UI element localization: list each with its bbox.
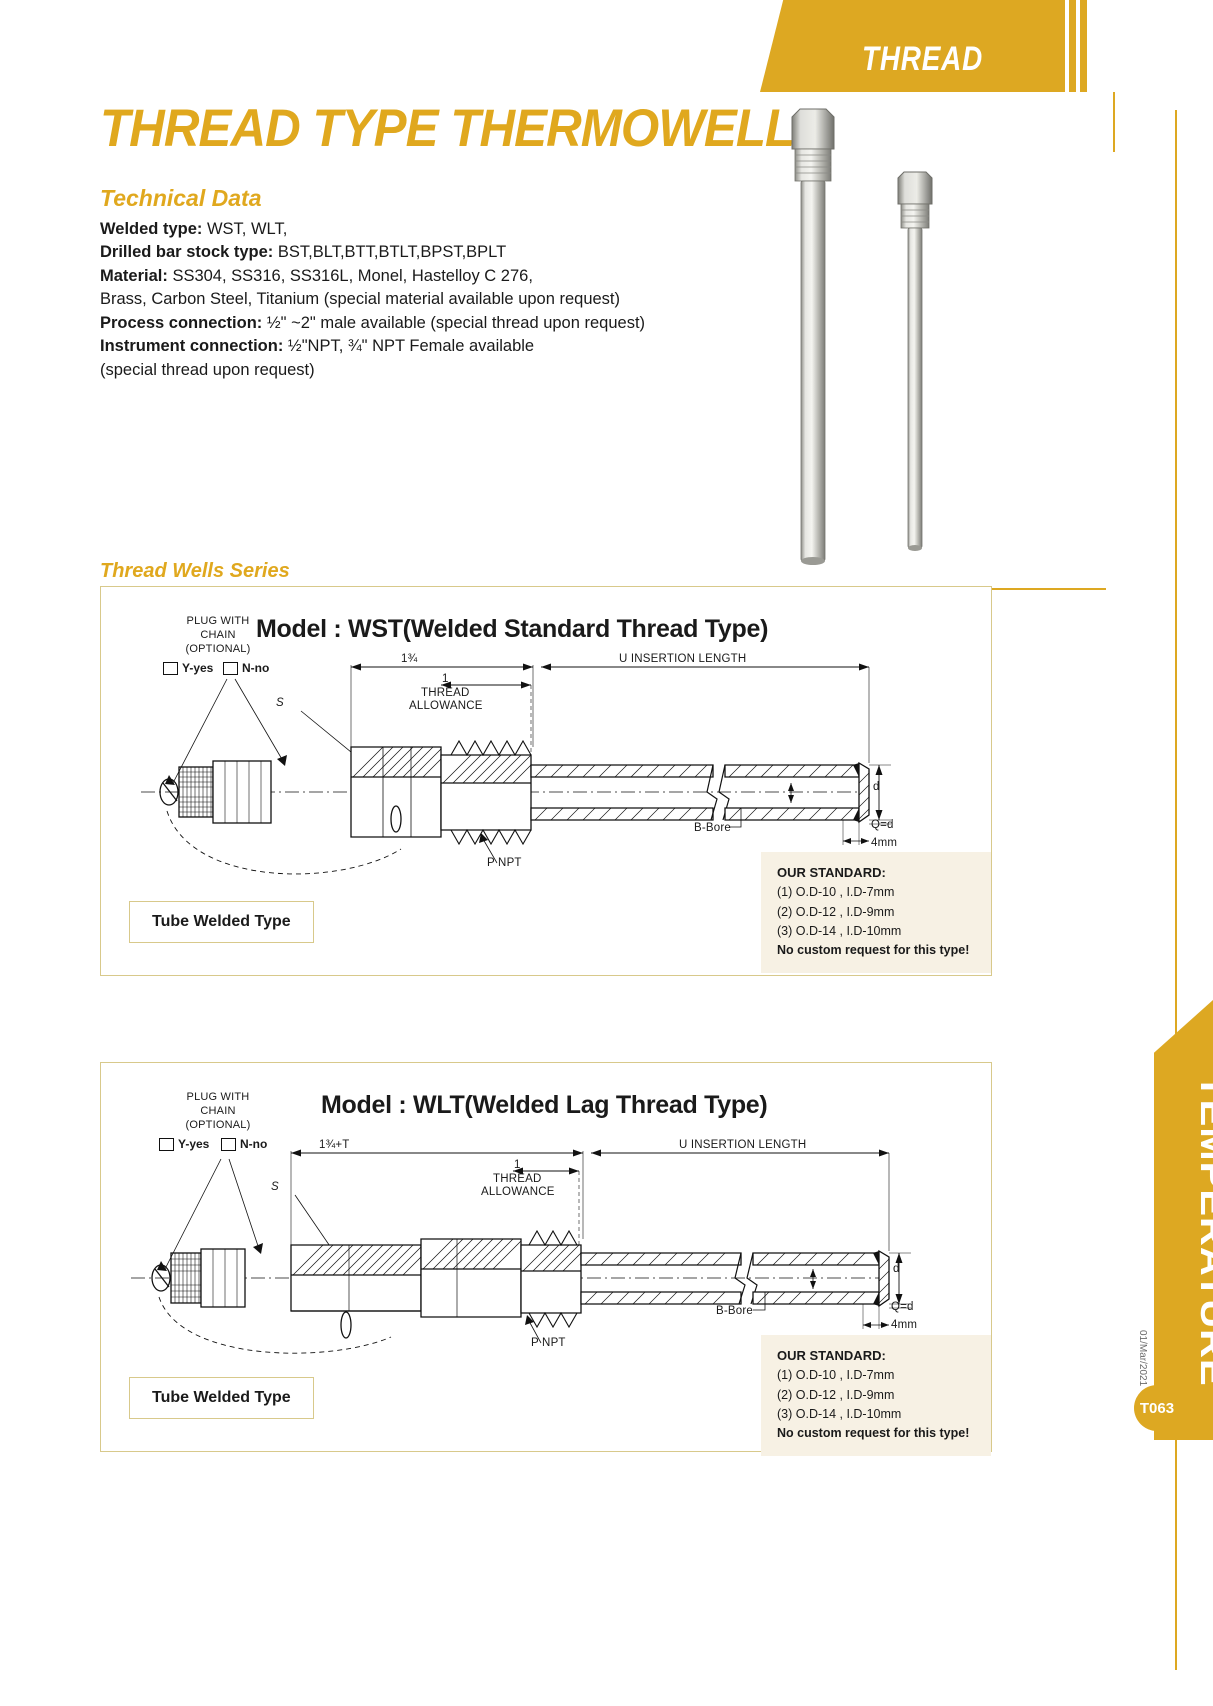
- side-tab-label: TEMPERATURE: [1192, 1021, 1213, 1441]
- our-standard-box-wst: OUR STANDARD: (1) O.D-10 , I.D-7mm (2) O…: [761, 852, 991, 973]
- our-standard-note-wst: No custom request for this type!: [777, 941, 977, 960]
- footer-page-number: T063: [1134, 1385, 1180, 1431]
- technical-data-value: ½ʺ ~2ʺ male available (special thread up…: [262, 314, 645, 332]
- header-stripes: [1036, 0, 1116, 92]
- technical-data-row: Instrument connection: ½ʺNPT, ¾ʺ NPT Fem…: [100, 335, 710, 358]
- technical-data-row: Process connection: ½ʺ ~2ʺ male availabl…: [100, 312, 710, 335]
- technical-data-value: ½ʺNPT, ¾ʺ NPT Female available: [283, 337, 534, 355]
- technical-data-label: Material:: [100, 267, 168, 285]
- thermowell-photo-large: [770, 105, 860, 575]
- our-standard-heading-wst: OUR STANDARD:: [777, 863, 977, 883]
- technical-data-label: Instrument connection:: [100, 337, 283, 355]
- diagram-panel-wst: PLUG WITHCHAIN(OPTIONAL) Y-yes N-no Mode…: [100, 586, 992, 976]
- our-standard-note-wlt: No custom request for this type!: [777, 1424, 977, 1443]
- technical-data-label: Process connection:: [100, 314, 262, 332]
- technical-data-label: Drilled bar stock type:: [100, 243, 273, 261]
- thermowell-photo-small: [880, 168, 950, 568]
- tube-welded-type-box-wst: Tube Welded Type: [129, 901, 314, 943]
- our-standard-item-2-wlt: (2) O.D-12 , I.D-9mm: [777, 1386, 977, 1405]
- tube-welded-type-box-wlt: Tube Welded Type: [129, 1377, 314, 1419]
- our-standard-item-1-wst: (1) O.D-10 , I.D-7mm: [777, 883, 977, 902]
- header-vertical-rule: [1113, 92, 1115, 152]
- technical-data-value: Brass, Carbon Steel, Titanium (special m…: [100, 290, 620, 308]
- side-tab-temperature: TEMPERATURE: [1154, 1000, 1213, 1440]
- diagram-panel-wlt: PLUG WITHCHAIN(OPTIONAL) Y-yes N-no Mode…: [100, 1062, 992, 1452]
- technical-data-heading: Technical Data: [100, 185, 261, 212]
- our-standard-box-wlt: OUR STANDARD: (1) O.D-10 , I.D-7mm (2) O…: [761, 1335, 991, 1456]
- technical-data-label: Welded type:: [100, 220, 202, 238]
- technical-data-value: (special thread upon request): [100, 361, 315, 379]
- page-title: THREAD TYPE THERMOWELLS: [100, 98, 826, 159]
- our-standard-item-1-wlt: (1) O.D-10 , I.D-7mm: [777, 1366, 977, 1385]
- series-heading: Thread Wells Series: [100, 560, 290, 583]
- header-tab-label: THREAD: [862, 40, 983, 79]
- technical-data-list: Welded type: WST, WLT,Drilled bar stock …: [100, 218, 710, 382]
- technical-data-value: WST, WLT,: [202, 220, 287, 238]
- technical-data-value: BST,BLT,BTT,BTLT,BPST,BPLT: [273, 243, 506, 261]
- technical-data-row: Material: SS304, SS316, SS316L, Monel, H…: [100, 265, 710, 288]
- technical-data-row: (special thread upon request): [100, 359, 710, 382]
- technical-data-value: SS304, SS316, SS316L, Monel, Hastelloy C…: [168, 267, 533, 285]
- our-standard-heading-wlt: OUR STANDARD:: [777, 1346, 977, 1366]
- technical-data-row: Drilled bar stock type: BST,BLT,BTT,BTLT…: [100, 241, 710, 264]
- technical-data-row: Welded type: WST, WLT,: [100, 218, 710, 241]
- our-standard-item-3-wlt: (3) O.D-14 , I.D-10mm: [777, 1405, 977, 1424]
- our-standard-item-3-wst: (3) O.D-14 , I.D-10mm: [777, 922, 977, 941]
- our-standard-item-2-wst: (2) O.D-12 , I.D-9mm: [777, 903, 977, 922]
- side-rail: TEMPERATURE 01/Mar/2021 T063: [1116, 0, 1213, 1706]
- footer-date: 01/Mar/2021: [1137, 1330, 1148, 1386]
- technical-data-row: Brass, Carbon Steel, Titanium (special m…: [100, 288, 710, 311]
